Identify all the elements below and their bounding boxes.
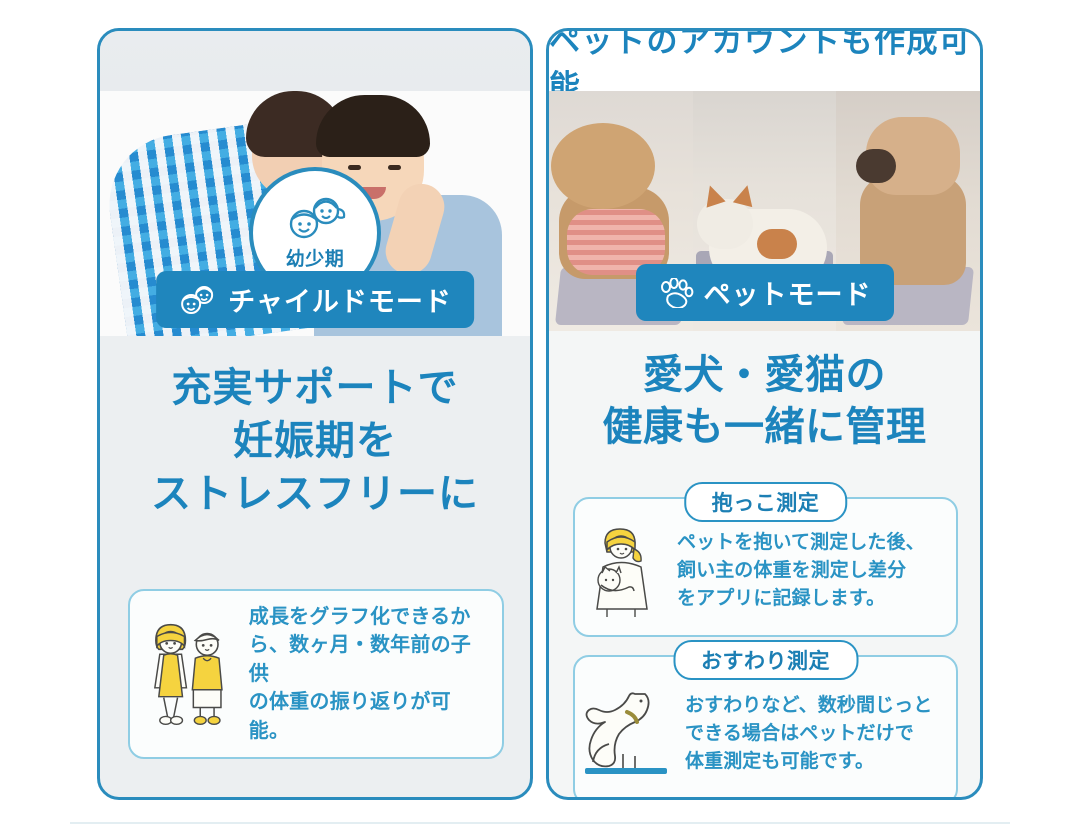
child-mode-card: 幼少期 チャイルドモード 充実サポートで 妊娠期を ストレスフリーに [97,28,533,800]
page-root: 幼少期 チャイルドモード 充実サポートで 妊娠期を ストレスフリーに [0,0,1080,834]
note-line-1: 成長をグラフ化できるか [249,603,488,631]
child-headline-line-3: ストレスフリーに [100,468,530,521]
measure-box-hold-text: ペットを抱いて測定した後、 飼い主の体重を測定し差分 をアプリに記録します。 [677,529,925,612]
measure-box-sit: おすわり測定 おすわりなど、数秒間じっと できる場合はペットだけで 体重測定も可… [573,655,958,800]
medallion-label: 幼少期 [286,244,345,271]
pet-mode-card: ペットのアカウントも作成可能 [546,28,983,800]
pet-headline: 愛犬・愛猫の 健康も一緒に管理 [549,349,980,453]
child-headline-line-1: 充実サポートで [100,362,530,415]
pet-headline-line-2: 健康も一緒に管理 [549,401,980,453]
sit-line-3: 体重測定も可能です。 [685,748,932,776]
measure-box-sit-text: おすわりなど、数秒間じっと できる場合はペットだけで 体重測定も可能です。 [685,692,932,775]
children-faces-icon [178,285,218,315]
sitting-dog-illustration [583,686,677,782]
pet-card-header: ペットのアカウントも作成可能 [549,31,980,91]
child-growth-note-text: 成長をグラフ化できるか ら、数ヶ月・数年前の子供 の体重の振り返りが可能。 [249,603,488,745]
note-line-3: の体重の振り返りが可能。 [249,688,488,745]
child-mode-pill[interactable]: チャイルドモード [156,271,474,328]
child-growth-note-box: 成長をグラフ化できるか ら、数ヶ月・数年前の子供 の体重の振り返りが可能。 [128,589,504,759]
child-headline-line-2: 妊娠期を [100,415,530,468]
woman-holding-pet-illustration [583,523,669,619]
pet-photo-strip: ペットモード [549,91,980,331]
two-children-illustration [144,618,235,730]
measure-box-hold-tag: 抱っこ測定 [684,482,848,522]
hold-line-1: ペットを抱いて測定した後、 [677,529,925,557]
sit-line-2: できる場合はペットだけで [685,720,932,748]
bottom-divider [70,822,1010,824]
measure-box-hold: 抱っこ測定 ペットを抱いて測定した後、 [573,497,958,637]
pet-mode-pill-label: ペットモード [704,273,872,312]
hold-line-2: 飼い主の体重を測定し差分 [677,557,925,585]
child-photo-area: 幼少期 チャイルドモード [100,31,530,336]
child-headline: 充実サポートで 妊娠期を ストレスフリーに [100,362,530,520]
measure-box-sit-tag: おすわり測定 [673,640,858,680]
child-mode-pill-label: チャイルドモード [228,280,452,319]
paw-print-icon [658,278,694,308]
two-children-faces-icon [282,197,348,241]
pet-mode-pill[interactable]: ペットモード [636,264,894,321]
pet-headline-line-1: 愛犬・愛猫の [549,349,980,401]
note-line-2: ら、数ヶ月・数年前の子供 [249,631,488,688]
hold-line-3: をアプリに記録します。 [677,585,925,613]
sit-line-1: おすわりなど、数秒間じっと [685,692,932,720]
